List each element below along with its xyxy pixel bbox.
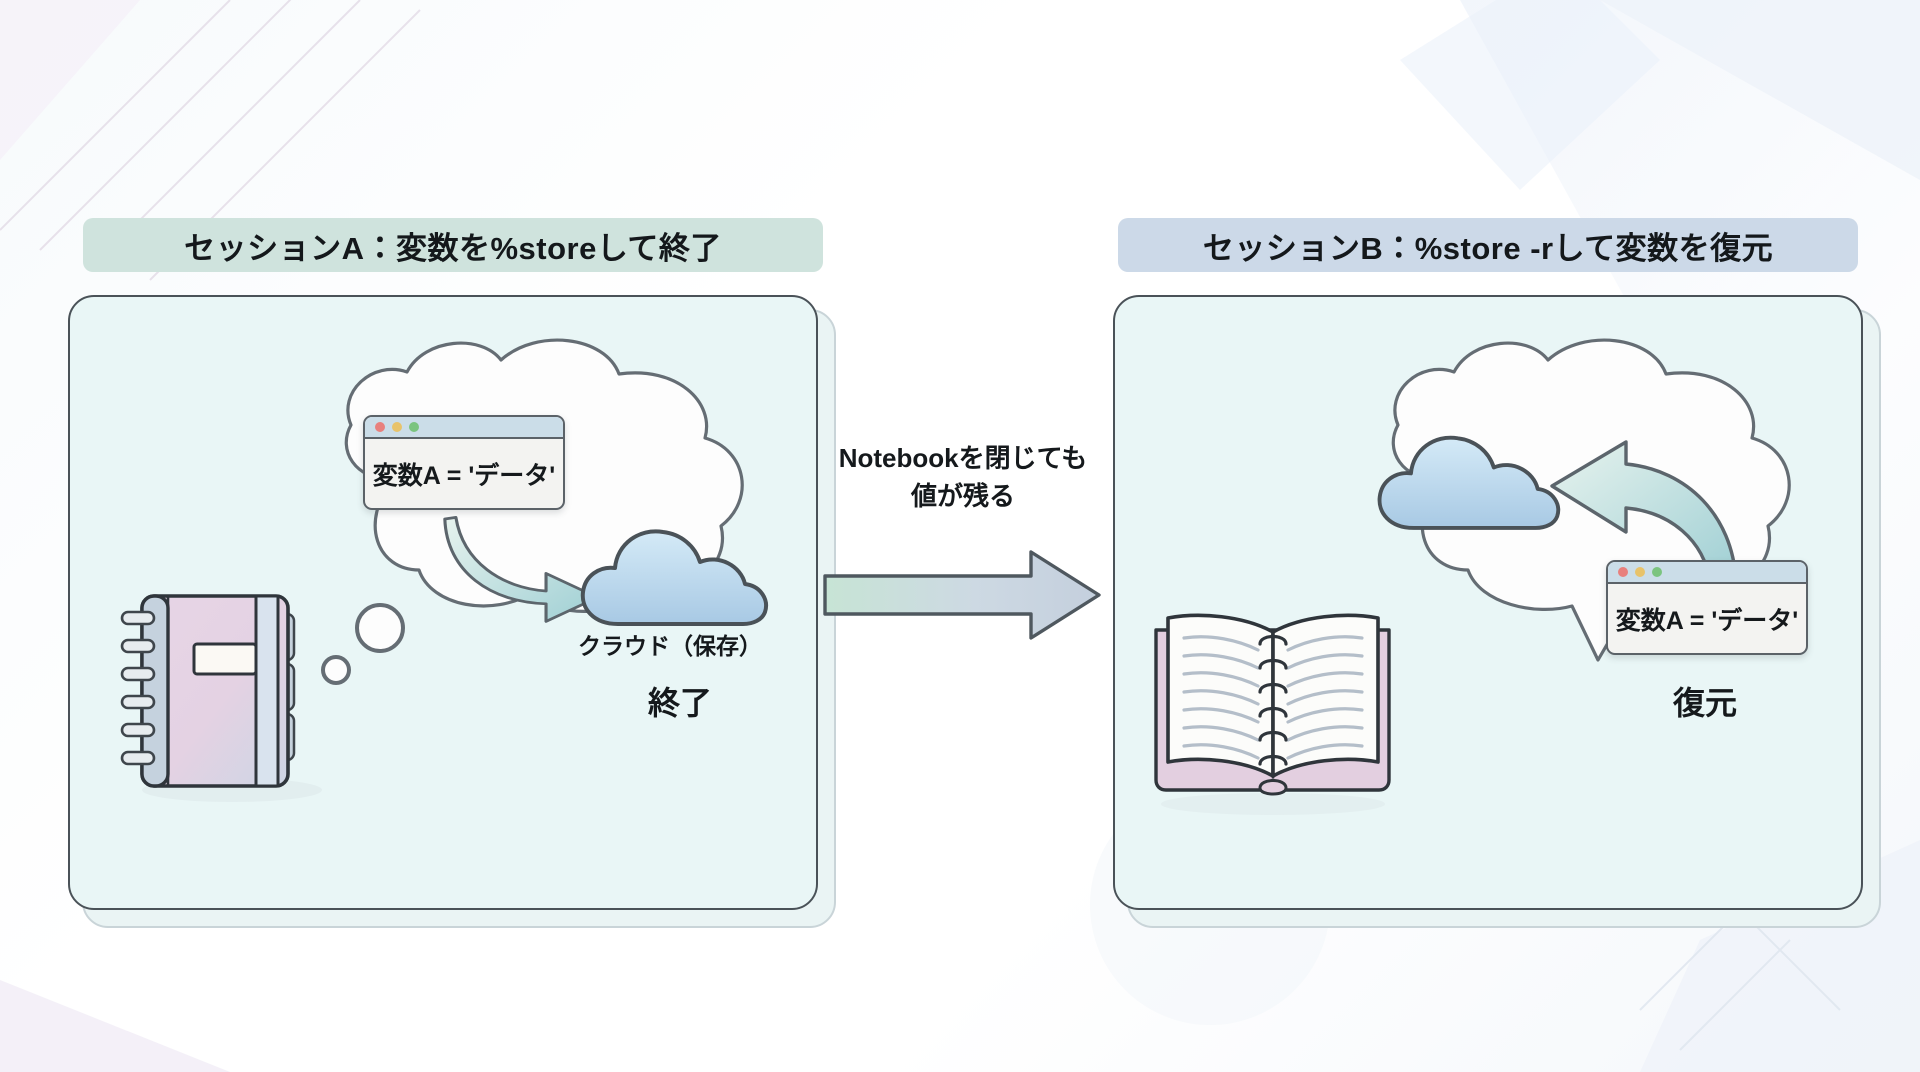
left-status-label: 終了 xyxy=(648,678,712,724)
left-code-text: 変数A = 'データ' xyxy=(365,439,563,508)
right-panel-title: セッションB：%store -rして変数を復元 xyxy=(1118,218,1858,272)
left-panel-title: セッションA：変数を%storeして終了 xyxy=(83,218,823,272)
closed-notebook-illustration xyxy=(120,582,335,802)
close-dot-icon xyxy=(375,422,385,432)
center-note-line1: Notebookを閉じても xyxy=(818,440,1108,478)
maximize-dot-icon xyxy=(1652,567,1662,577)
maximize-dot-icon xyxy=(409,422,419,432)
minimize-dot-icon xyxy=(1635,567,1645,577)
center-note: Notebookを閉じても 値が残る xyxy=(818,440,1108,515)
right-code-window: 変数A = 'データ' xyxy=(1606,560,1808,655)
right-status-label: 復元 xyxy=(1673,678,1737,724)
left-code-window-titlebar xyxy=(365,417,563,439)
center-note-line2: 値が残る xyxy=(818,478,1108,516)
right-code-window-titlebar xyxy=(1608,562,1806,584)
right-code-text: 変数A = 'データ' xyxy=(1608,584,1806,653)
transfer-arrow-icon xyxy=(823,550,1103,640)
cloud-caption-left: クラウド（保存） xyxy=(578,627,762,661)
diagram-canvas: セッションA：変数を%storeして終了 変数A = 'データ' xyxy=(0,0,1920,1072)
open-book-illustration xyxy=(1140,608,1405,813)
cloud-icon-right xyxy=(1370,425,1565,550)
minimize-dot-icon xyxy=(392,422,402,432)
left-panel-title-text: セッションA：変数を%storeして終了 xyxy=(184,223,722,268)
close-dot-icon xyxy=(1618,567,1628,577)
right-panel-title-text: セッションB：%store -rして変数を復元 xyxy=(1203,223,1773,268)
left-code-window: 変数A = 'データ' xyxy=(363,415,565,510)
